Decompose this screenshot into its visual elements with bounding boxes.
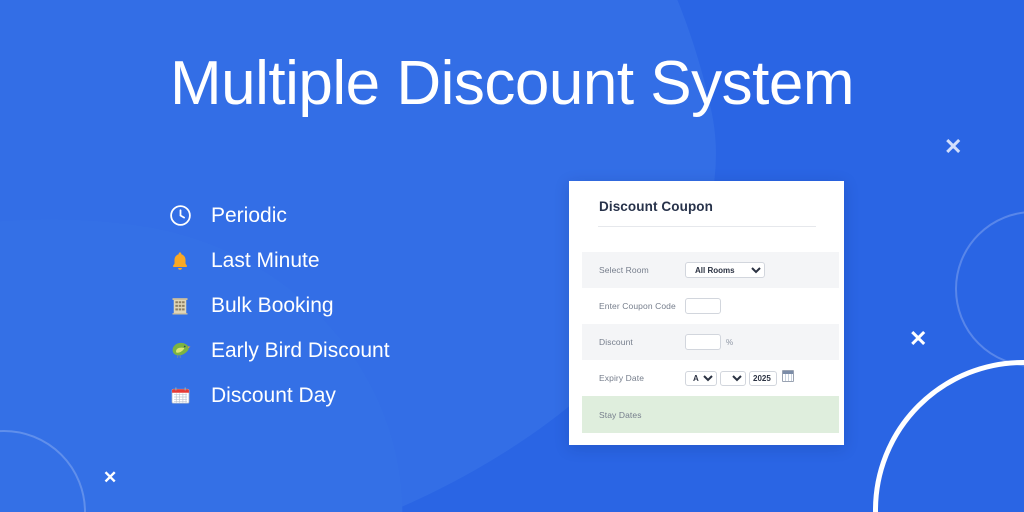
decorative-x-icon-right: ✕ (909, 328, 927, 350)
form-row-expiry-date: Expiry Date Aug 21 (582, 360, 839, 396)
calendar-icon (165, 381, 195, 411)
select-room-field: All Rooms (685, 262, 765, 278)
form-row-discount: Discount % (582, 324, 839, 360)
card-divider (598, 226, 816, 227)
coupon-code-input[interactable] (685, 298, 721, 314)
list-item-bulk-booking: Bulk Booking (165, 283, 495, 328)
expiry-month-dropdown[interactable]: Aug (685, 371, 717, 386)
decorative-circle-top-right (955, 211, 1024, 367)
coupon-form: Select Room All Rooms Enter Coupon Code … (582, 252, 839, 433)
expiry-date-field: Aug 21 (685, 370, 794, 387)
form-row-stay-dates: Stay Dates (582, 396, 839, 433)
select-room-label: Select Room (599, 265, 685, 275)
form-row-coupon-code: Enter Coupon Code (582, 288, 839, 324)
list-item-label: Periodic (211, 204, 287, 228)
feature-list: Periodic Last Minute (165, 193, 495, 418)
list-item-label: Last Minute (211, 249, 320, 273)
decorative-x-icon-bottom-left: ✕ (103, 469, 117, 486)
clock-icon (165, 201, 195, 231)
decorative-circle-bottom-right (873, 360, 1024, 512)
list-item-label: Early Bird Discount (211, 339, 390, 363)
coupon-code-field (685, 298, 721, 314)
building-icon (165, 291, 195, 321)
bird-icon (165, 336, 195, 366)
list-item-early-bird: Early Bird Discount (165, 328, 495, 373)
discount-field: % (685, 334, 733, 350)
stay-dates-label: Stay Dates (599, 410, 685, 420)
expiry-year-input[interactable] (749, 371, 777, 386)
bell-icon (165, 246, 195, 276)
list-item-label: Discount Day (211, 384, 336, 408)
expiry-date-label: Expiry Date (599, 373, 685, 383)
card-title: Discount Coupon (599, 199, 713, 214)
decorative-x-icon-top-right: ✕ (944, 136, 962, 158)
list-item-label: Bulk Booking (211, 294, 334, 318)
promo-banner: ✕ ✕ ✕ Multiple Discount System Periodic … (0, 0, 1024, 512)
form-row-select-room: Select Room All Rooms (582, 252, 839, 288)
discount-coupon-card: Discount Coupon Select Room All Rooms En… (569, 181, 844, 445)
calendar-picker-icon[interactable] (782, 370, 794, 382)
discount-input[interactable] (685, 334, 721, 350)
list-item-discount-day: Discount Day (165, 373, 495, 418)
coupon-code-label: Enter Coupon Code (599, 301, 685, 311)
list-item-periodic: Periodic (165, 193, 495, 238)
discount-label: Discount (599, 337, 685, 347)
expiry-day-dropdown[interactable]: 21 (720, 371, 746, 386)
percent-symbol: % (726, 338, 733, 347)
decorative-circle-bottom-left (0, 430, 86, 512)
select-room-dropdown[interactable]: All Rooms (685, 262, 765, 278)
page-title: Multiple Discount System (0, 48, 1024, 119)
list-item-last-minute: Last Minute (165, 238, 495, 283)
